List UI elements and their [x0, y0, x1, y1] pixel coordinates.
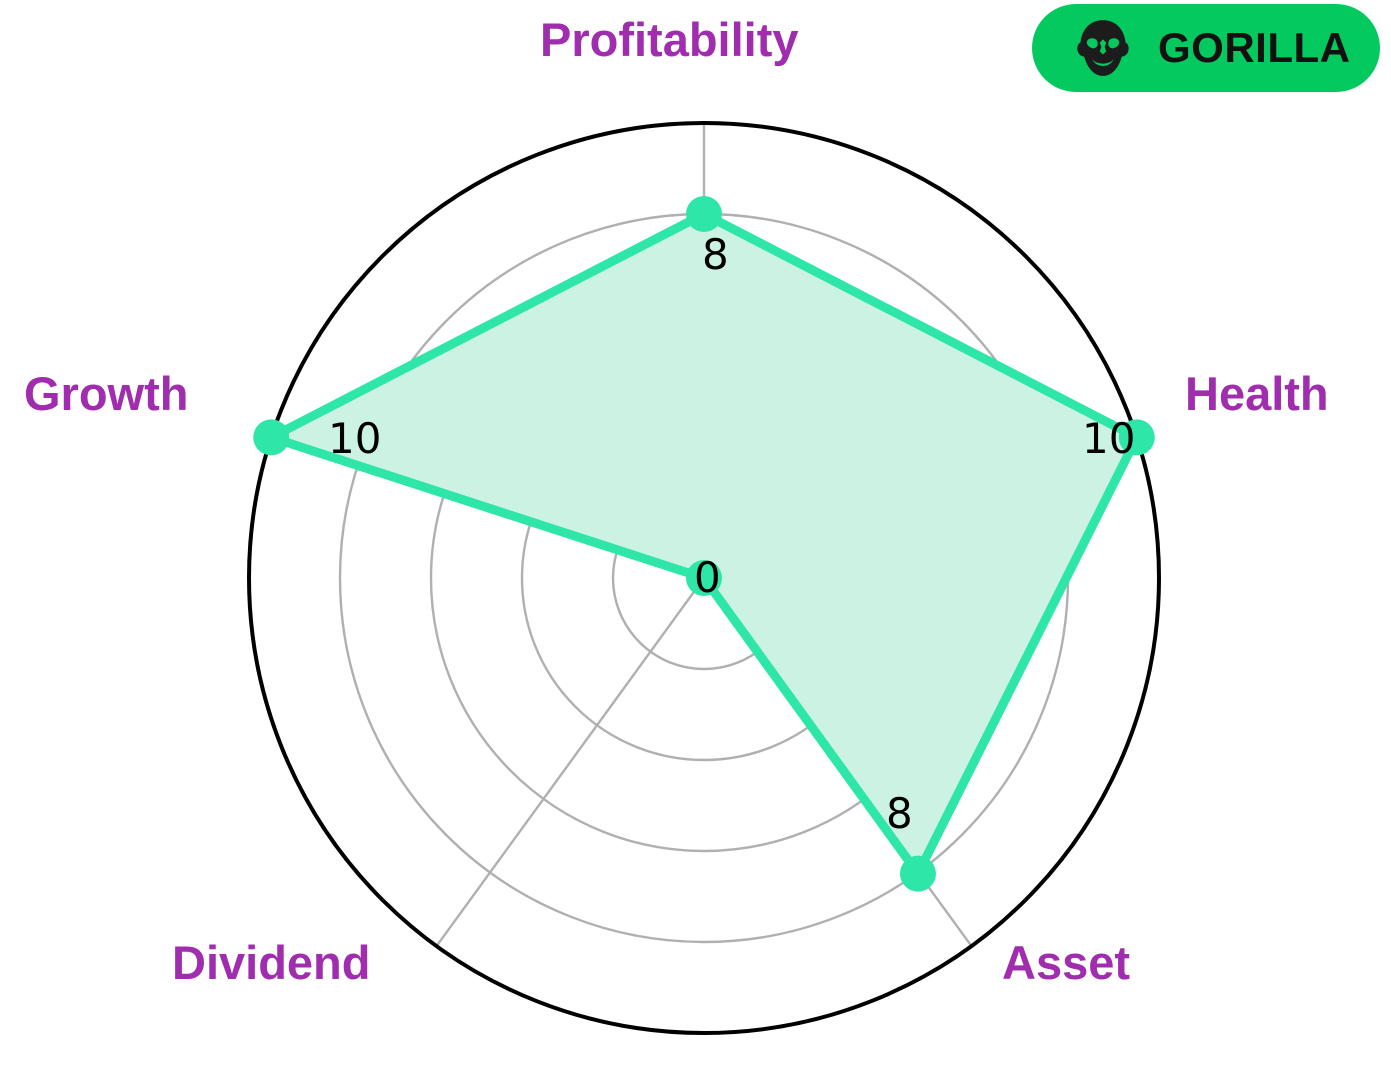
value-label-dividend: 0	[694, 557, 721, 599]
spoke-dividend	[437, 578, 704, 946]
axis-label-growth: Growth	[24, 370, 188, 417]
axis-label-health: Health	[1185, 370, 1329, 417]
data-point-profitability	[686, 196, 722, 232]
value-label-growth: 10	[328, 418, 381, 460]
radar-chart	[0, 0, 1391, 1065]
value-label-asset: 8	[886, 793, 913, 835]
axis-label-profitability: Profitability	[540, 16, 799, 63]
value-label-health: 10	[1082, 418, 1135, 460]
axis-label-asset: Asset	[1002, 939, 1130, 986]
data-point-asset	[900, 856, 936, 892]
series-area-gorilla	[271, 214, 1137, 874]
brand-name-label: GORILLA	[1158, 24, 1350, 72]
brand-badge: GORILLA	[1032, 4, 1380, 92]
value-label-profitability: 8	[702, 234, 729, 276]
axis-label-dividend: Dividend	[172, 939, 370, 986]
data-point-growth	[253, 419, 289, 455]
gorilla-face-icon	[1076, 19, 1130, 77]
